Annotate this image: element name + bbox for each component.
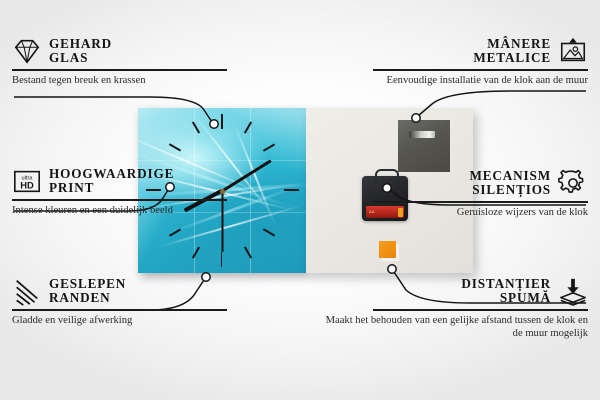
feature-title-line: DISTANȚIER xyxy=(461,277,551,291)
feature-title-line: HOOGWAARDIGE xyxy=(49,167,174,181)
feature-title-line: RANDEN xyxy=(49,291,126,305)
feature-description: Intense kleuren en een duidelijk beeld xyxy=(12,204,227,218)
feature-description: Maakt het behouden van een gelijke afsta… xyxy=(323,314,588,341)
svg-text:HD: HD xyxy=(20,181,34,191)
feature-title-line: SPUMĂ xyxy=(500,291,551,305)
divider xyxy=(373,309,588,311)
hanger-slot xyxy=(409,131,435,138)
feature-print: ultra HD HOOGWAARDIGE PRINT Intense kleu… xyxy=(12,166,227,217)
infographic-canvas: AA GEHARD GLAS xyxy=(0,0,600,400)
feature-description: Eenvoudige installatie van de klok aan d… xyxy=(373,74,588,88)
picture-hanger-icon xyxy=(558,36,588,66)
feature-title-line: SILENȚIOS xyxy=(472,183,551,197)
divider xyxy=(373,69,588,71)
foam-spacer xyxy=(379,241,396,258)
feature-title-line: METALICE xyxy=(473,51,551,65)
feature-handles: MÂNERE METALICE Eenvoudige installatie v… xyxy=(373,36,588,87)
divider xyxy=(12,309,227,311)
feature-description: Bestand tegen breuk en krassen xyxy=(12,74,227,88)
feature-title-line: PRINT xyxy=(49,181,174,195)
divider xyxy=(12,69,227,71)
feature-edges: GESLEPEN RANDEN Gladde en veilige afwerk… xyxy=(12,276,227,327)
feature-title-line: GLAS xyxy=(49,51,112,65)
metal-hanger-plate xyxy=(398,120,450,172)
ultra-hd-icon: ultra HD xyxy=(12,166,42,196)
feature-title-line: GEHARD xyxy=(49,37,112,51)
feature-spacer: DISTANȚIER SPUMĂ Maakt het behouden van … xyxy=(373,276,588,341)
gear-icon xyxy=(558,168,588,198)
feature-description: Gladde en veilige afwerking xyxy=(12,314,227,328)
feature-title-line: MÂNERE xyxy=(487,37,551,51)
diamond-icon xyxy=(12,36,42,66)
feature-mechanism: MECANISM SILENȚIOS Geruisloze wijzers va… xyxy=(373,168,588,219)
feature-glass: GEHARD GLAS Bestand tegen breuk en krass… xyxy=(12,36,227,87)
feature-title-line: MECANISM xyxy=(469,169,551,183)
feature-title-line: GESLEPEN xyxy=(49,277,126,291)
feature-description: Geruisloze wijzers van de klok xyxy=(373,206,588,220)
press-down-icon xyxy=(558,276,588,306)
beveled-edges-icon xyxy=(12,276,42,306)
divider xyxy=(12,199,227,201)
divider xyxy=(373,201,588,203)
